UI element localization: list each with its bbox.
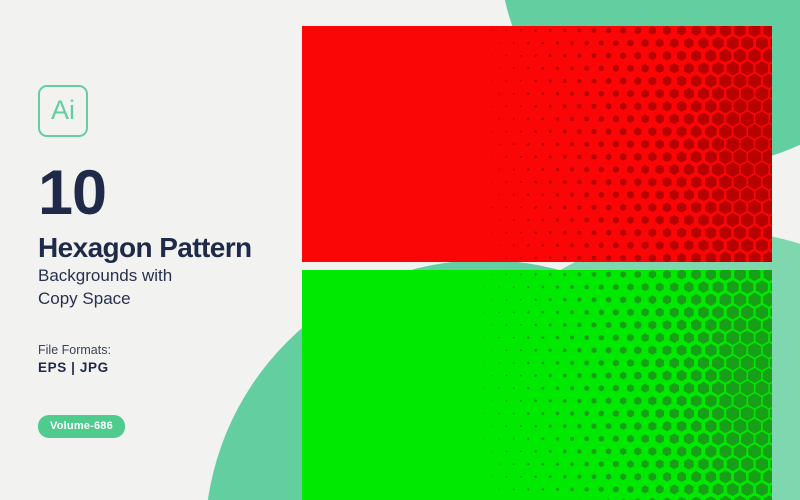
page-subtitle-line-2: Copy Space	[38, 287, 172, 310]
file-formats-value: EPS | JPG	[38, 360, 109, 375]
halftone-pattern-red	[302, 26, 772, 262]
red-hexagon-panel	[302, 26, 772, 262]
page-title: Hexagon Pattern	[38, 234, 252, 262]
green-hexagon-panel	[302, 270, 772, 500]
info-column: Ai 10 Hexagon Pattern Backgrounds with C…	[38, 0, 288, 500]
file-formats-label: File Formats:	[38, 343, 111, 357]
page-subtitle-line-1: Backgrounds with	[38, 264, 172, 287]
adobe-illustrator-badge-icon: Ai	[38, 85, 88, 137]
ai-badge-label: Ai	[51, 97, 75, 124]
halftone-pattern-green	[302, 270, 772, 500]
volume-badge: Volume-686	[38, 415, 125, 438]
page-subtitle: Backgrounds with Copy Space	[38, 264, 172, 311]
item-count: 10	[38, 162, 106, 225]
preview-canvas: Ai 10 Hexagon Pattern Backgrounds with C…	[0, 0, 800, 500]
